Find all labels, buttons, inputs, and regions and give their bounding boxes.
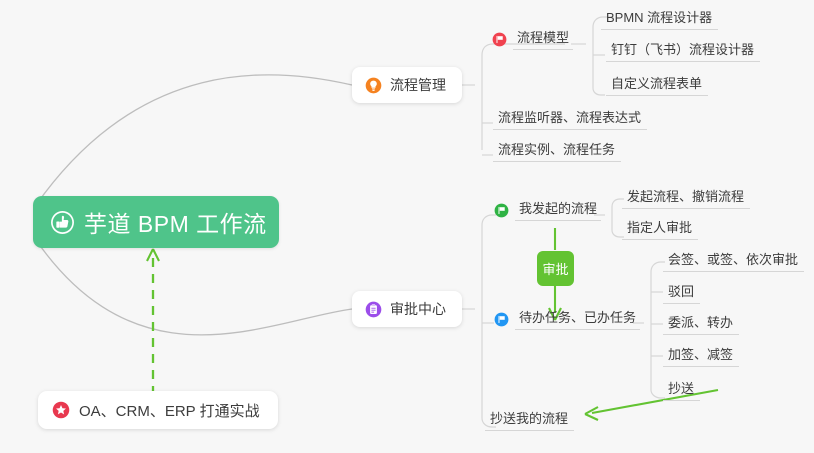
branch-label: 流程管理	[390, 75, 446, 95]
sub-node-label: 待办任务、已办任务	[515, 310, 640, 330]
lightbulb-circle-icon	[365, 77, 382, 94]
sub-node-process-model[interactable]: 流程模型	[492, 30, 573, 50]
leaf-cc[interactable]: 抄送	[663, 381, 700, 401]
sub-node-label: 我发起的流程	[515, 201, 601, 221]
leaf-delegate-transfer[interactable]: 委派、转办	[663, 315, 739, 335]
sub-node-todo-done-tasks[interactable]: 待办任务、已办任务	[494, 310, 640, 330]
leaf-assignee-approval[interactable]: 指定人审批	[622, 220, 698, 240]
branch-label: 审批中心	[390, 299, 446, 319]
star-circle-icon	[52, 401, 70, 419]
leaf-add-remove-sign[interactable]: 加签、减签	[663, 347, 739, 367]
callout-node-integration[interactable]: OA、CRM、ERP 打通实战	[38, 391, 278, 429]
leaf-countersign-or-sequential[interactable]: 会签、或签、依次审批	[663, 252, 804, 272]
leaf-bpmn-designer[interactable]: BPMN 流程设计器	[601, 10, 718, 30]
sub-node-my-started-processes[interactable]: 我发起的流程	[494, 201, 601, 221]
leaf-process-instance-task[interactable]: 流程实例、流程任务	[493, 142, 621, 162]
branch-node-process-management[interactable]: 流程管理	[352, 67, 462, 103]
branch-node-approval-center[interactable]: 审批中心	[352, 291, 462, 327]
sub-node-label: 流程模型	[513, 30, 573, 50]
clipboard-circle-icon	[365, 301, 382, 318]
leaf-dingtalk-feishu-designer[interactable]: 钉钉（飞书）流程设计器	[606, 42, 760, 62]
leaf-custom-process-form[interactable]: 自定义流程表单	[606, 76, 708, 96]
flag-circle-green-icon	[494, 203, 509, 218]
root-label: 芋道 BPM 工作流	[84, 205, 267, 239]
leaf-start-cancel-process[interactable]: 发起流程、撤销流程	[622, 189, 750, 209]
flag-circle-blue-icon	[494, 312, 509, 327]
thumbs-up-circle-icon	[50, 210, 75, 235]
callout-label: OA、CRM、ERP 打通实战	[79, 400, 260, 421]
annotation-approval: 审批	[537, 251, 574, 286]
root-node[interactable]: 芋道 BPM 工作流	[33, 196, 279, 248]
leaf-reject[interactable]: 驳回	[663, 284, 700, 304]
mindmap-canvas: 芋道 BPM 工作流 流程管理 流程模型 BPMN 流程设计器 钉钉（飞书）流程…	[0, 0, 814, 453]
leaf-cc-to-me-processes[interactable]: 抄送我的流程	[485, 411, 574, 431]
flag-circle-red-icon	[492, 32, 507, 47]
leaf-process-listener-expression[interactable]: 流程监听器、流程表达式	[493, 110, 647, 130]
